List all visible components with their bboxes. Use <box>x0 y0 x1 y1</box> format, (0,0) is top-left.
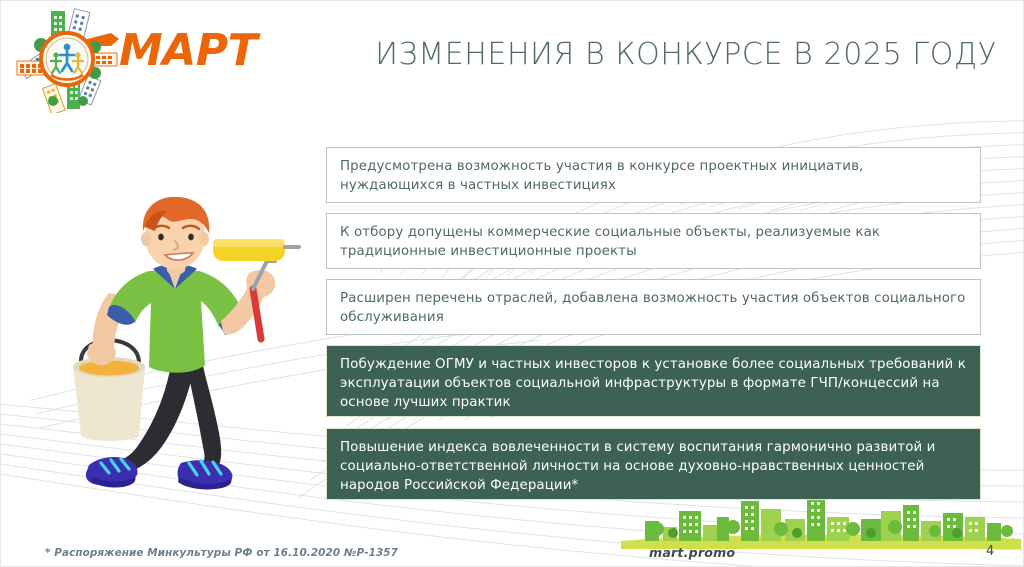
content-box: К отбору допущены коммерческие социальны… <box>326 213 981 269</box>
site-label: mart.promo <box>649 545 735 560</box>
content-box-list: Предусмотрена возможность участия в конк… <box>326 147 981 500</box>
shoe-front <box>178 460 233 489</box>
shoe-back <box>86 457 138 488</box>
content-box-highlighted: Побуждение ОГМУ и частных инвесторов к у… <box>326 345 981 417</box>
painter-illustration <box>53 197 305 497</box>
content-box: Расширен перечень отраслей, добавлена во… <box>326 279 981 335</box>
mart-emblem-icon <box>11 5 123 113</box>
content-box-highlighted: Повышение индекса вовлеченности в систем… <box>326 428 981 500</box>
page-number: 4 <box>986 544 994 559</box>
slide-canvas: МАРТ ИЗМЕНЕНИЯ В КОНКУРСЕ В 2025 ГОДУ Пр… <box>0 0 1024 567</box>
page-title: ИЗМЕНЕНИЯ В КОНКУРСЕ В 2025 ГОДУ <box>361 37 1011 72</box>
brand-logo: МАРТ <box>9 3 259 115</box>
logo-wordmark: МАРТ <box>119 29 257 73</box>
paint-bucket <box>73 357 145 441</box>
content-box: Предусмотрена возможность участия в конк… <box>326 147 981 203</box>
footnote-text: * Распоряжение Минкультуры РФ от 16.10.2… <box>45 547 398 559</box>
